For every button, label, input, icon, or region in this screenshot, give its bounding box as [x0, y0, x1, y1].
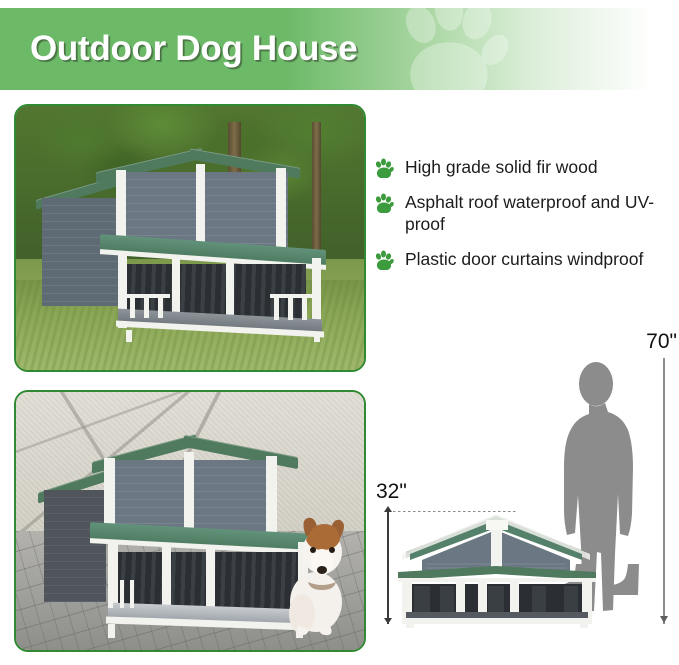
page-header: Outdoor Dog House: [0, 8, 679, 90]
photo-scene-pavement: [16, 392, 364, 650]
house-height-label: 32": [376, 480, 407, 504]
person-dimension-line: [663, 358, 665, 624]
page-title: Outdoor Dog House: [30, 29, 357, 69]
paw-print-icon: [374, 193, 394, 213]
product-photo-grass: [14, 104, 366, 372]
feature-text: Asphalt roof waterproof and UV-proof: [405, 191, 674, 235]
scale-diagram: 70" 32": [374, 330, 679, 665]
product-infographic: Outdoor Dog House: [0, 0, 679, 665]
feature-text: Plastic door curtains windproof: [405, 248, 643, 270]
photo-scene-grass: [16, 106, 364, 370]
paw-print-icon: [374, 158, 394, 178]
dog-house-front-view: [392, 508, 602, 628]
feature-item: High grade solid fir wood: [374, 156, 674, 178]
feature-text: High grade solid fir wood: [405, 156, 598, 178]
dog-house-illustration: [30, 154, 360, 334]
paw-print-icon: [374, 250, 394, 270]
paw-print-watermark-icon: [385, 0, 513, 114]
feature-item: Plastic door curtains windproof: [374, 248, 674, 270]
house-dimension-arrow-top: [384, 506, 392, 512]
person-height-label: 70": [646, 330, 677, 354]
house-dimension-line: [387, 512, 389, 624]
person-dimension-arrow: [660, 616, 668, 623]
feature-item: Asphalt roof waterproof and UV-proof: [374, 191, 674, 235]
product-photo-with-dog: [14, 390, 366, 652]
dog-illustration: [262, 510, 362, 638]
house-dimension-arrow-bottom: [384, 618, 392, 624]
feature-list: High grade solid fir wood Asphalt roof w…: [374, 156, 674, 283]
